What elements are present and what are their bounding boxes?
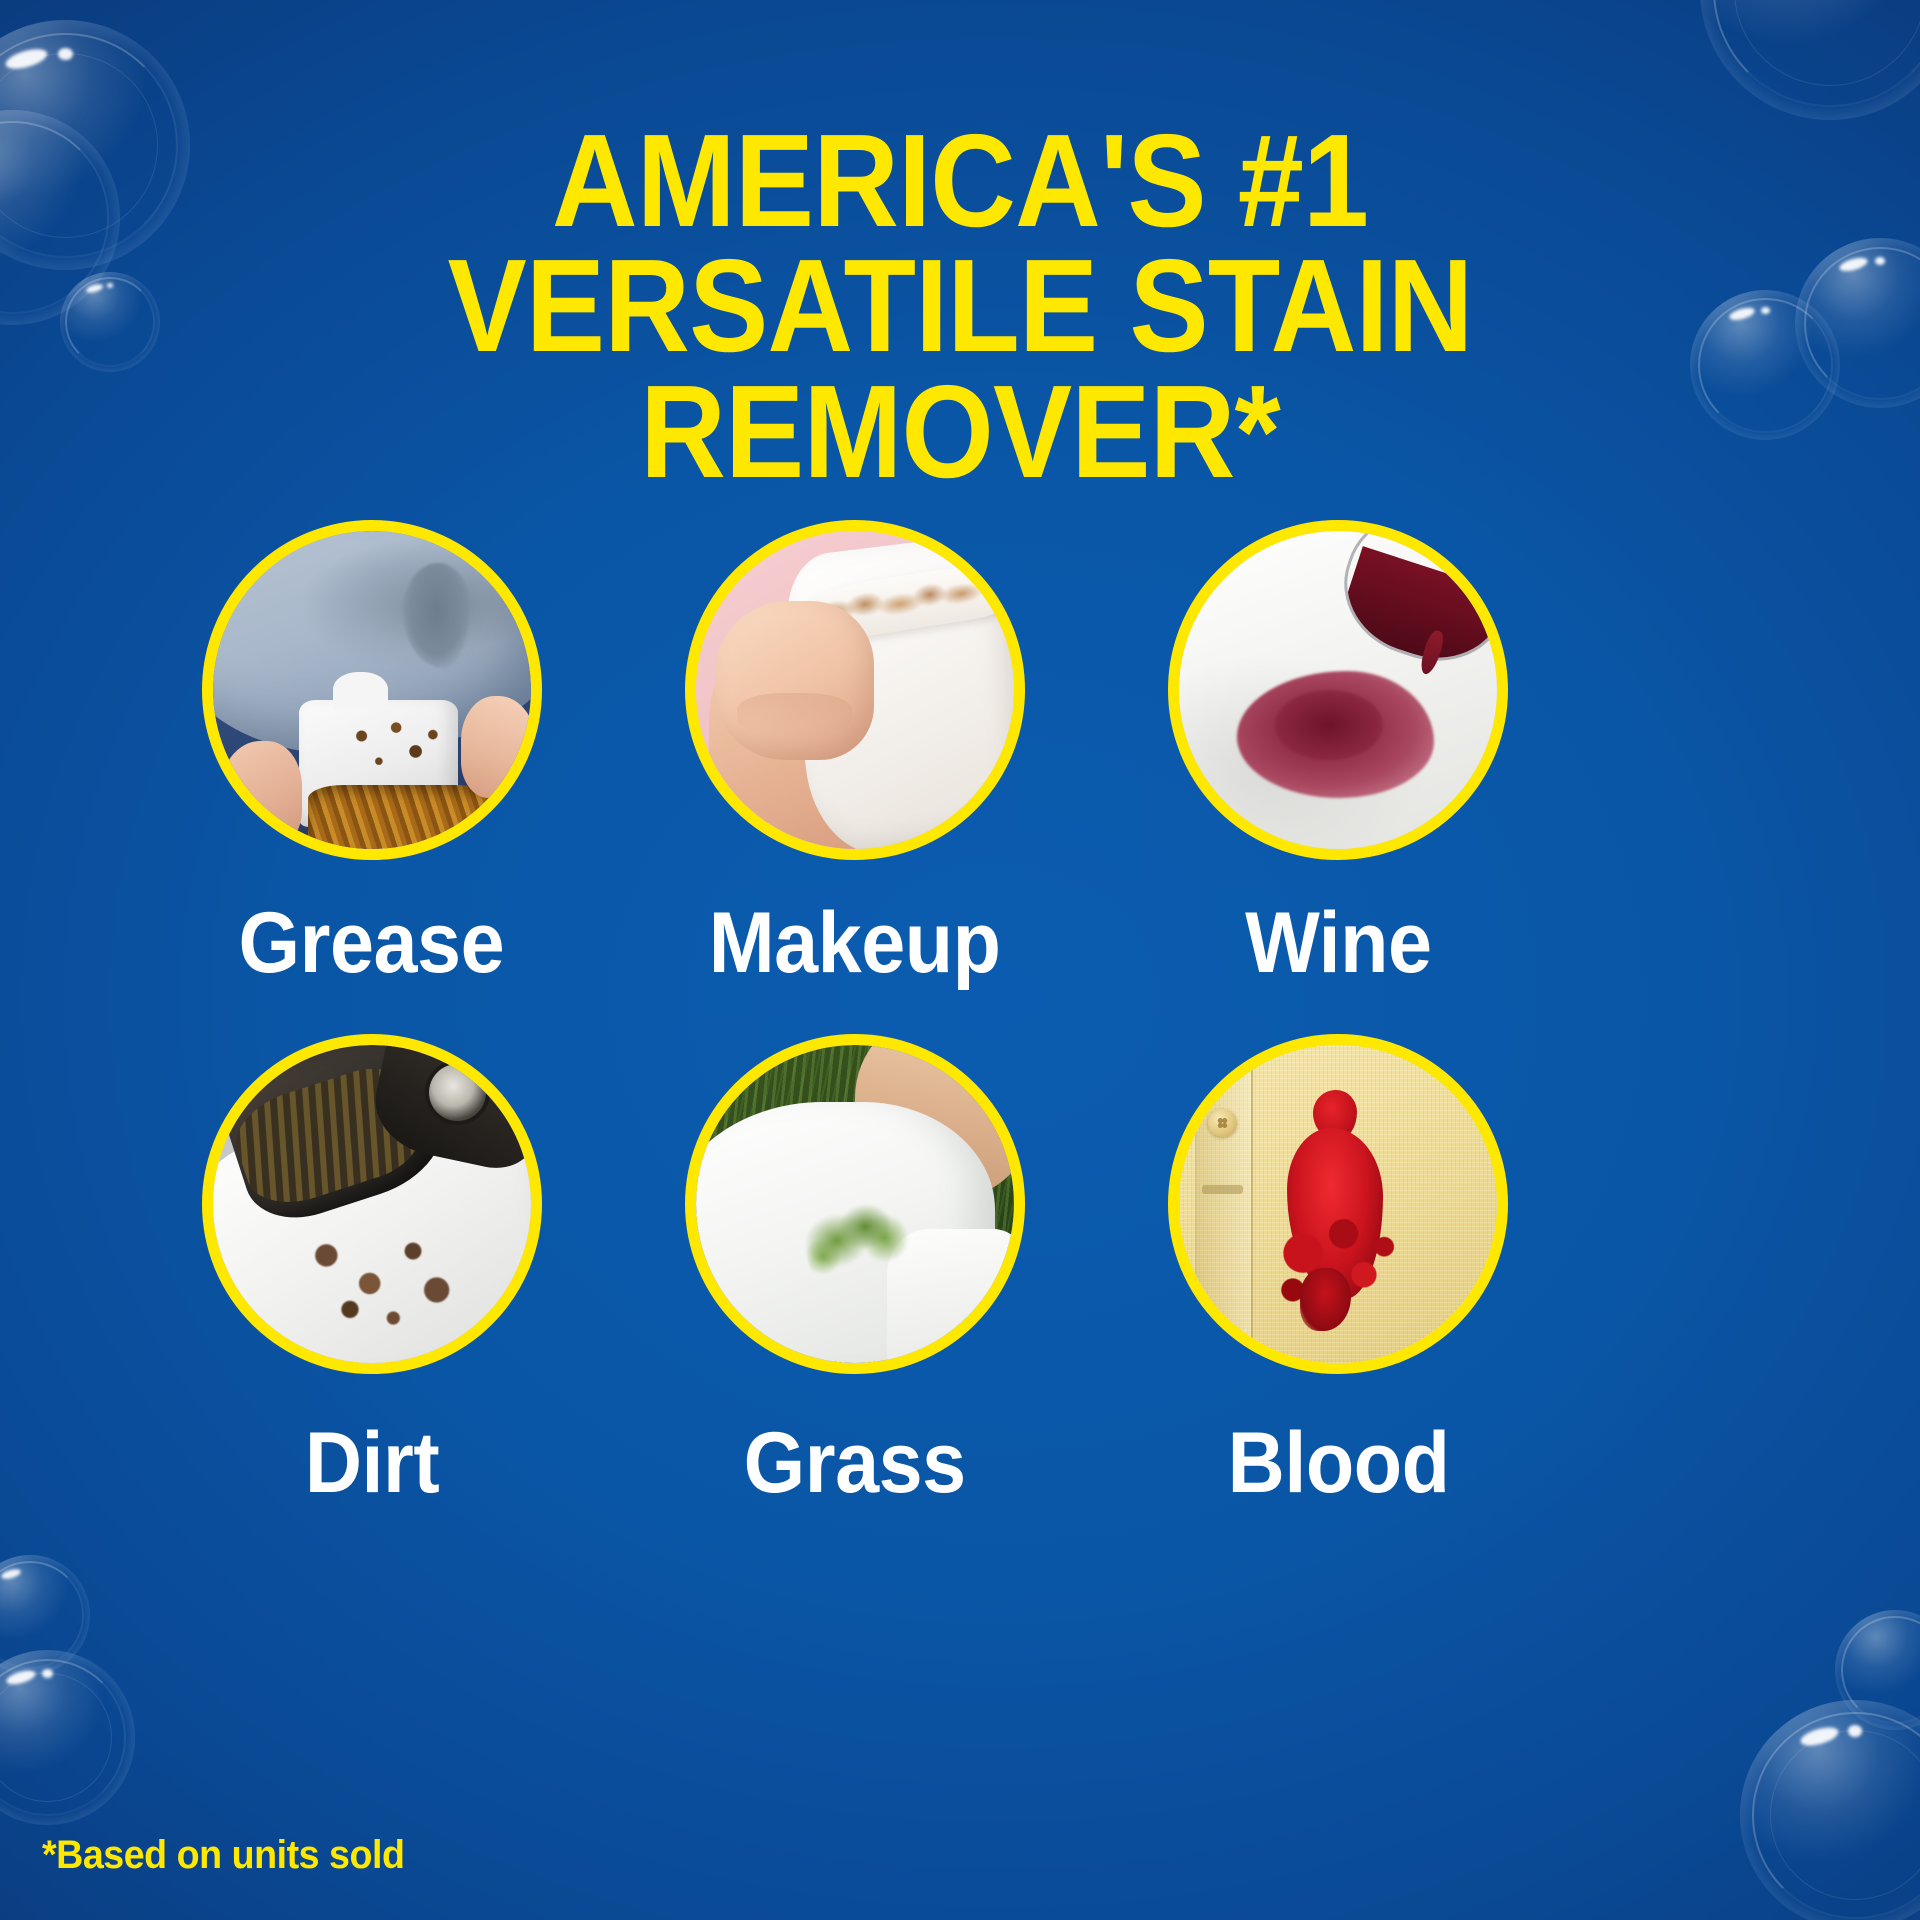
bubble-bottom-right-big [1740,1700,1920,1920]
stain-photo-grass [685,1034,1025,1374]
stain-card-makeup[interactable]: Makeup [613,520,1096,986]
bubble-bottom-left-small [0,1555,90,1675]
stain-grid: Grease Makeup Wine [130,520,1580,1506]
stain-card-dirt[interactable]: Dirt [130,1034,613,1506]
footnote-disclaimer: *Based on units sold [42,1833,404,1878]
stain-label-blood: Blood [1227,1420,1449,1506]
stain-card-grease[interactable]: Grease [130,520,613,986]
stain-label-grease: Grease [239,900,505,986]
stain-card-wine[interactable]: Wine [1097,520,1580,986]
bubble-bottom-right-sm [1835,1610,1920,1730]
stain-photo-wine [1168,520,1508,860]
stain-photo-blood [1168,1034,1508,1374]
stain-photo-makeup [685,520,1025,860]
bubble-top-right-large [1700,0,1920,120]
stain-photo-grease [202,520,542,860]
stain-card-grass[interactable]: Grass [613,1034,1096,1506]
stain-photo-dirt [202,1034,542,1374]
stain-label-grass: Grass [744,1420,966,1506]
stain-label-dirt: Dirt [304,1420,438,1506]
stain-label-makeup: Makeup [709,900,1001,986]
poster-canvas: AMERICA'S #1 VERSATILE STAIN REMOVER* Gr… [0,0,1920,1920]
headline: AMERICA'S #1 VERSATILE STAIN REMOVER* [96,118,1824,494]
stain-label-wine: Wine [1245,900,1431,986]
bubble-bottom-left-big [0,1650,135,1825]
stain-card-blood[interactable]: Blood [1097,1034,1580,1506]
